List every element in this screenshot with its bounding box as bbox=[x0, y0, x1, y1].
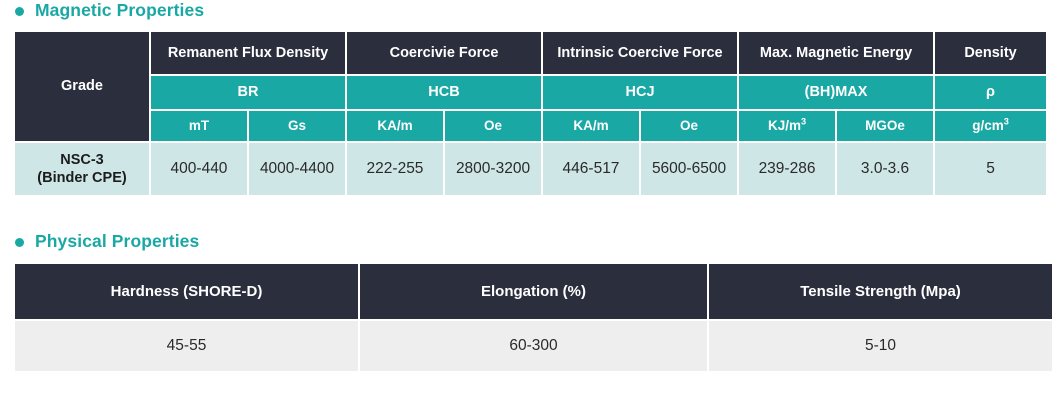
unit-header-gs-text: Gs bbox=[288, 118, 306, 133]
cell-bhmax-mgoe: 3.0-3.6 bbox=[837, 143, 933, 195]
row-grade-line1: NSC-3 bbox=[15, 151, 149, 169]
physical-properties-table: Hardness (SHORE-D) Elongation (%) Tensil… bbox=[13, 262, 1054, 373]
unit-header-kam-hcb-text: KA/m bbox=[377, 118, 412, 133]
unit-header-oe-hcj: Oe bbox=[641, 111, 737, 141]
cell-bhmax-kjm3: 239-286 bbox=[739, 143, 835, 195]
symbol-header-hcj: HCJ bbox=[543, 76, 737, 109]
symbol-header-rho: ρ bbox=[935, 76, 1046, 109]
unit-header-mgoe: MGOe bbox=[837, 111, 933, 141]
cell-hcb-oe: 2800-3200 bbox=[445, 143, 541, 195]
unit-header-gcm3-sup: 3 bbox=[1004, 117, 1009, 127]
unit-header-gs: Gs bbox=[249, 111, 345, 141]
group-header-max-magnetic-energy: Max. Magnetic Energy bbox=[739, 32, 933, 74]
symbol-header-br: BR bbox=[151, 76, 345, 109]
unit-header-mt: mT bbox=[151, 111, 247, 141]
page-title-magnetic: Magnetic Properties bbox=[35, 0, 204, 21]
unit-header-oe-hcb-text: Oe bbox=[484, 118, 502, 133]
cell-tensile-strength-value: 5-10 bbox=[709, 321, 1052, 371]
cell-hcb-kam: 222-255 bbox=[347, 143, 443, 195]
unit-header-mt-text: mT bbox=[189, 118, 209, 133]
column-header-hardness: Hardness (SHORE-D) bbox=[15, 264, 358, 319]
magnetic-properties-table: Grade Remanent Flux Density Coercivie Fo… bbox=[13, 30, 1048, 197]
table-row-group-headers: Grade Remanent Flux Density Coercivie Fo… bbox=[15, 32, 1046, 74]
row-grade-line2: (Binder CPE) bbox=[15, 169, 149, 187]
symbol-header-hcb: HCB bbox=[347, 76, 541, 109]
group-header-remanent-flux-density: Remanent Flux Density bbox=[151, 32, 345, 74]
cell-hardness-value: 45-55 bbox=[15, 321, 358, 371]
table-row-physical-headers: Hardness (SHORE-D) Elongation (%) Tensil… bbox=[15, 264, 1052, 319]
group-header-coercivie-force: Coercivie Force bbox=[347, 32, 541, 74]
column-header-grade: Grade bbox=[15, 32, 149, 141]
cell-density-gcm3: 5 bbox=[935, 143, 1046, 195]
unit-header-oe-hcb: Oe bbox=[445, 111, 541, 141]
unit-header-gcm3-text: g/cm bbox=[972, 118, 1004, 133]
bullet-dot-icon bbox=[15, 238, 24, 247]
unit-header-kjm3: KJ/m3 bbox=[739, 111, 835, 141]
unit-header-kam-hcj-text: KA/m bbox=[573, 118, 608, 133]
row-grade-label: NSC-3 (Binder CPE) bbox=[15, 143, 149, 195]
properties-page: Magnetic Properties Grade Remanent Flux … bbox=[0, 0, 1059, 406]
unit-header-mgoe-text: MGOe bbox=[865, 118, 905, 133]
unit-header-kam-hcb: KA/m bbox=[347, 111, 443, 141]
column-header-tensile-strength: Tensile Strength (Mpa) bbox=[709, 264, 1052, 319]
group-header-density: Density bbox=[935, 32, 1046, 74]
cell-br-mt: 400-440 bbox=[151, 143, 247, 195]
unit-header-oe-hcj-text: Oe bbox=[680, 118, 698, 133]
unit-header-kjm3-text: KJ/m bbox=[768, 118, 801, 133]
symbol-header-bhmax: (BH)MAX bbox=[739, 76, 933, 109]
table-row-symbol-headers: BR HCB HCJ (BH)MAX ρ bbox=[15, 76, 1046, 109]
bullet-dot-icon bbox=[15, 7, 24, 16]
cell-hcj-oe: 5600-6500 bbox=[641, 143, 737, 195]
table-row: NSC-3 (Binder CPE) 400-440 4000-4400 222… bbox=[15, 143, 1046, 195]
cell-hcj-kam: 446-517 bbox=[543, 143, 639, 195]
cell-br-gs: 4000-4400 bbox=[249, 143, 345, 195]
unit-header-kjm3-sup: 3 bbox=[801, 117, 806, 127]
unit-header-gcm3: g/cm3 bbox=[935, 111, 1046, 141]
table-row: 45-55 60-300 5-10 bbox=[15, 321, 1052, 371]
section-heading-physical: Physical Properties bbox=[0, 231, 1059, 252]
section-heading-magnetic: Magnetic Properties bbox=[0, 0, 1059, 21]
unit-header-kam-hcj: KA/m bbox=[543, 111, 639, 141]
table-row-unit-headers: mT Gs KA/m Oe KA/m Oe KJ/m3 MGOe g/cm3 bbox=[15, 111, 1046, 141]
column-header-elongation: Elongation (%) bbox=[360, 264, 707, 319]
page-title-physical: Physical Properties bbox=[35, 231, 199, 252]
group-header-intrinsic-coercive-force: Intrinsic Coercive Force bbox=[543, 32, 737, 74]
cell-elongation-value: 60-300 bbox=[360, 321, 707, 371]
